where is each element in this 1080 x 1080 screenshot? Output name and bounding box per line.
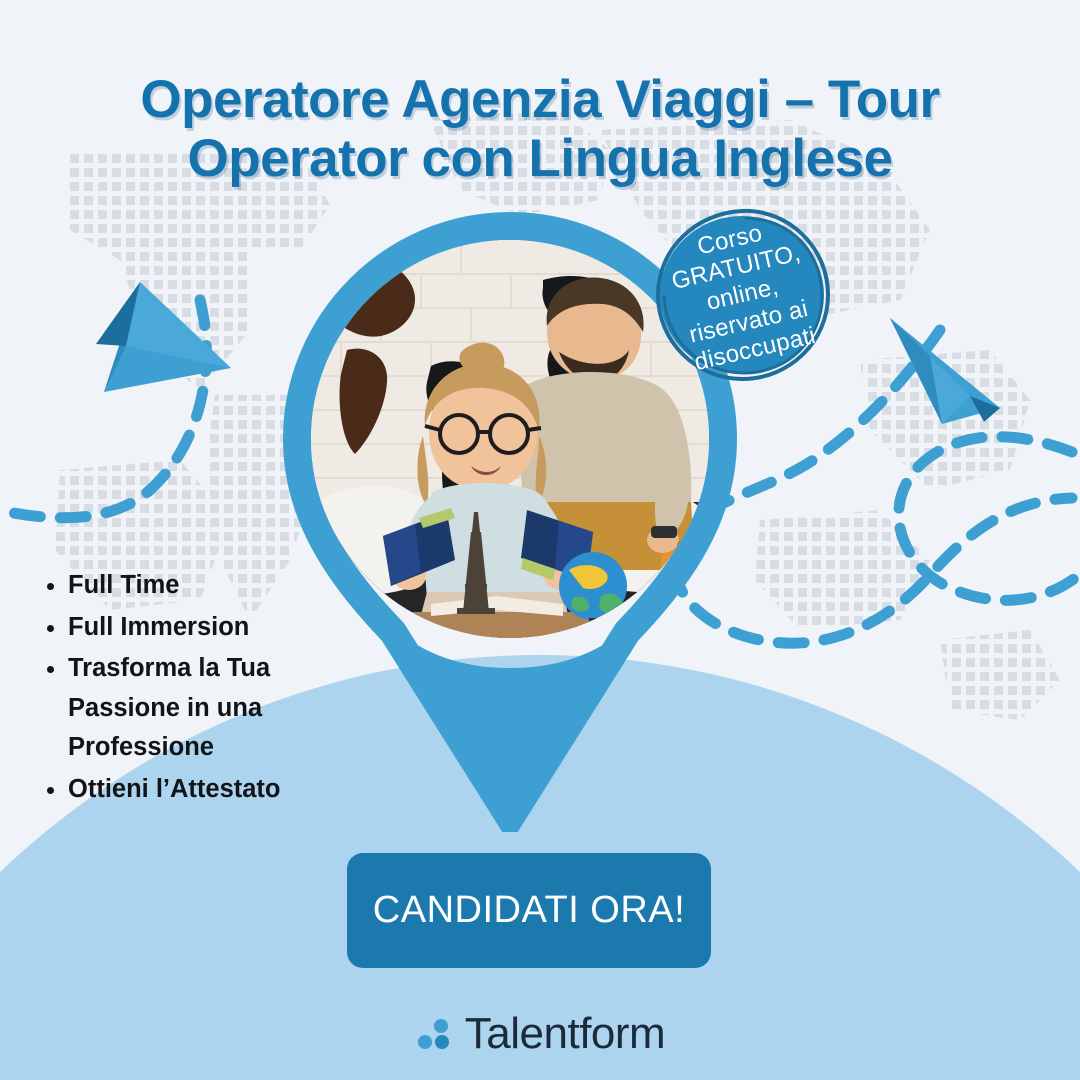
brand-name: Talentform [465,1012,665,1056]
apply-now-button[interactable]: CANDIDATI ORA! [347,853,711,968]
list-item: Full Immersion [68,608,368,648]
talentform-dots-icon [415,1017,455,1051]
list-item: Full Time [68,566,368,606]
title-line-1: Operatore Agenzia Viaggi – Tour [0,70,1080,129]
title-line-2: Operator con Lingua Inglese [0,129,1080,188]
free-course-badge: Corso GRATUITO, online, riservato ai dis… [650,205,835,385]
page-title: Operatore Agenzia Viaggi – Tour Operator… [0,70,1080,189]
paper-plane-left-icon [96,272,276,422]
list-item: Trasforma la Tua Passione in una Profess… [68,649,368,768]
paper-plane-right-icon [872,296,1027,441]
benefits-list: Full Time Full Immersion Trasforma la Tu… [36,566,368,811]
list-item: Ottieni l’Attestato [68,770,368,810]
trail-right-upper [899,437,1075,601]
promo-poster: Operatore Agenzia Viaggi – Tour Operator… [0,0,1080,1080]
brand-logo: Talentform [0,1012,1080,1056]
